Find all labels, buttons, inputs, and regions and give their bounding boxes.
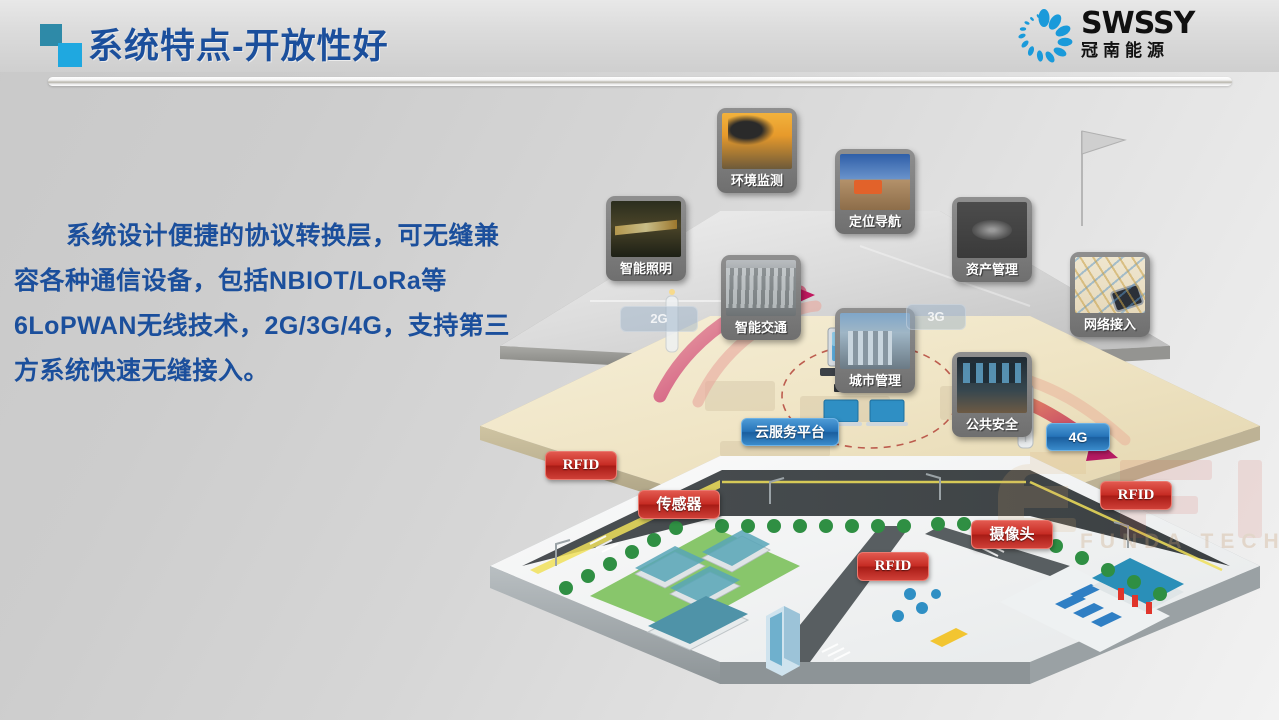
water-drop-swirl-icon (1013, 8, 1075, 66)
badge-2g: 2G (620, 306, 698, 332)
app-card-label: 网络接入 (1075, 313, 1145, 337)
badge-camera[interactable]: 摄像头 (971, 520, 1053, 549)
app-card-label: 资产管理 (957, 258, 1027, 282)
badge-rfid-left[interactable]: RFID (545, 451, 617, 480)
traffic-jam-thumb (726, 260, 796, 316)
logo-subtitle: 冠南能源 (1081, 40, 1194, 62)
city-skyline-thumb (840, 313, 910, 369)
app-card-label: 智能照明 (611, 257, 681, 281)
badge-rfid-right[interactable]: RFID (1100, 481, 1172, 510)
manhole-cover-thumb (957, 202, 1027, 258)
body-paragraph: 系统设计便捷的协议转换层，可无缝兼容各种通信设备，包括NBIOT/LoRa等6L… (14, 214, 514, 394)
app-card-asset-management[interactable]: 资产管理 (952, 197, 1032, 282)
page-title: 系统特点-开放性好 (88, 18, 389, 69)
control-room-thumb (957, 357, 1027, 413)
app-card-label: 城市管理 (840, 369, 910, 393)
app-card-smart-transportation[interactable]: 智能交通 (721, 255, 801, 340)
smokestack-pollution-thumb (722, 113, 792, 169)
app-card-urban-management[interactable]: 城市管理 (835, 308, 915, 393)
app-card-label: 智能交通 (726, 316, 796, 340)
deco-square-light (58, 43, 82, 67)
logo-name: SWSSY (1081, 8, 1194, 40)
app-card-public-safety[interactable]: 公共安全 (952, 352, 1032, 437)
truck-highway-thumb (840, 154, 910, 210)
night-city-lighting-thumb (611, 201, 681, 257)
app-card-label: 公共安全 (957, 413, 1027, 437)
title-divider (48, 77, 1232, 86)
pda-device-icon (1112, 285, 1142, 310)
badge-4g[interactable]: 4G (1046, 423, 1110, 451)
app-card-network-access[interactable]: 网络接入 (1070, 252, 1150, 337)
badge-3g: 3G (906, 304, 966, 330)
tower-building (766, 606, 800, 676)
app-card-smart-lighting[interactable]: 智能照明 (606, 196, 686, 281)
map-pda-thumb (1075, 257, 1145, 313)
badge-cloud-service-platform[interactable]: 云服务平台 (741, 418, 839, 446)
badge-rfid-center[interactable]: RFID (857, 552, 929, 581)
slide-header: 系统特点-开放性好 SWSSY 冠南能源 (0, 0, 1279, 92)
app-card-label: 定位导航 (840, 210, 910, 234)
app-card-label: 环境监测 (722, 169, 792, 193)
logo-text-block: SWSSY 冠南能源 (1081, 8, 1194, 62)
iot-architecture-diagram: FUNDA TECHNOLOGY 智能照明 环境监测 智能交通 定位导航 城市管… (470, 96, 1270, 696)
app-card-environment-monitoring[interactable]: 环境监测 (717, 108, 797, 193)
badge-sensor-left[interactable]: 传感器 (638, 490, 720, 519)
company-logo: SWSSY 冠南能源 (1013, 6, 1263, 70)
app-card-positioning-navigation[interactable]: 定位导航 (835, 149, 915, 234)
